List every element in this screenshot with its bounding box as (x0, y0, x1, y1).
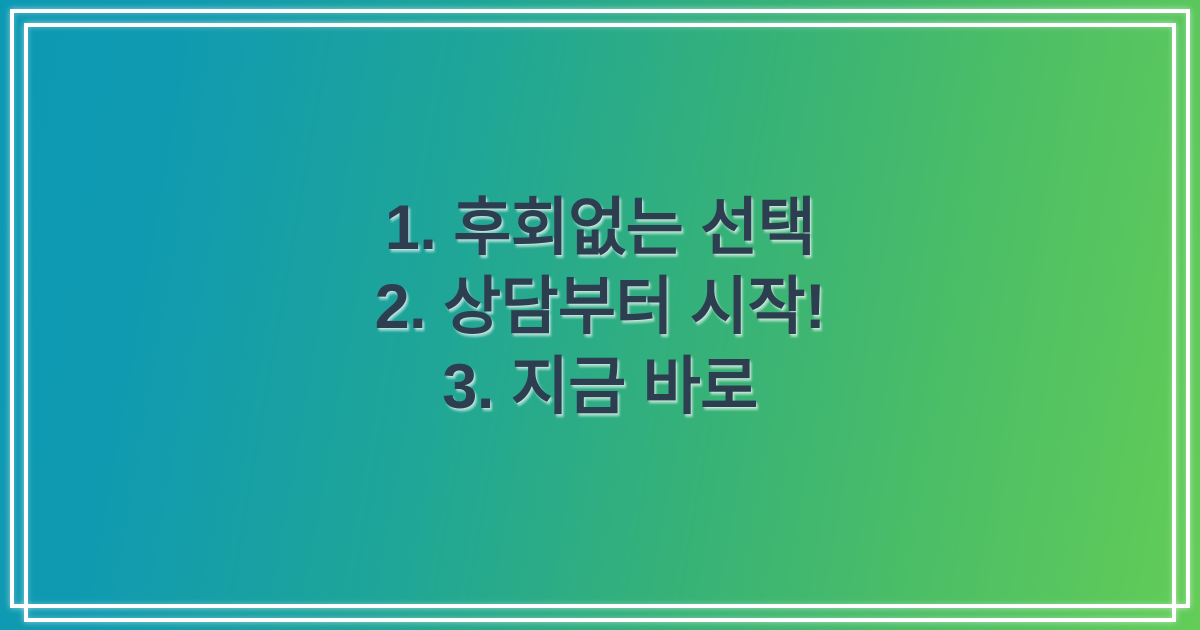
promo-banner: 1. 후회없는 선택 2. 상담부터 시작! 3. 지금 바로 (0, 0, 1200, 630)
headline-line-1: 1. 후회없는 선택 (385, 189, 815, 268)
headline-block: 1. 후회없는 선택 2. 상담부터 시작! 3. 지금 바로 (0, 0, 1200, 630)
headline-line-3: 3. 지금 바로 (442, 348, 757, 427)
headline-line-2: 2. 상담부터 시작! (375, 268, 826, 347)
